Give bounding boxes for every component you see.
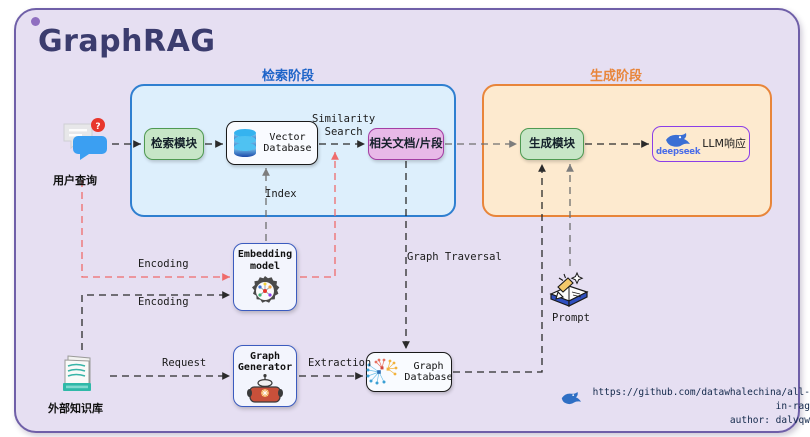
retrieve-module-label: 检索模块 <box>151 137 197 150</box>
knowledge-base-label: 外部知识库 <box>48 400 103 416</box>
retrieval-phase-label: 检索阶段 <box>262 65 314 84</box>
footer-url[interactable]: https://github.com/datawhalechina/all-in… <box>589 386 810 414</box>
graph-db-label-line1: Graph <box>404 361 452 373</box>
footer-author: author: dalvqw <box>589 414 810 428</box>
node-llm-response[interactable]: deepseek LLM响应 <box>652 126 750 162</box>
node-vector-database[interactable]: Vector Database <box>226 121 318 165</box>
embedding-model-label-line1: Embedding <box>238 249 292 260</box>
robot-icon <box>247 374 283 404</box>
user-query-icon: ? <box>60 118 112 162</box>
gear-network-icon <box>248 274 282 308</box>
node-generate-module[interactable]: 生成模块 <box>520 128 584 160</box>
graph-generator-label-line2: Generator <box>238 362 292 373</box>
vector-db-label-line1: Vector <box>263 132 311 144</box>
relevant-docs-label: 相关文档/片段 <box>369 137 442 150</box>
similarity-search-caption: Similarity Search <box>312 113 375 138</box>
page-title: GraphRAG <box>38 24 215 59</box>
similarity-search-line1: Similarity <box>312 113 375 125</box>
request-caption: Request <box>162 357 206 369</box>
index-caption: Index <box>265 188 297 200</box>
similarity-search-line2: Search <box>325 126 363 138</box>
prompt-icon <box>546 268 594 312</box>
graph-generator-label-line1: Graph <box>250 351 280 362</box>
deepseek-wordmark: deepseek <box>656 147 700 157</box>
graph-db-label-line2: Database <box>404 372 452 384</box>
whale-icon <box>560 388 583 410</box>
svg-text:?: ? <box>95 122 100 132</box>
diagram-canvas: GraphRAG 检索阶段 生成阶段 <box>0 0 810 437</box>
node-graph-database[interactable]: Graph Database <box>366 352 452 392</box>
deepseek-logo: deepseek <box>656 131 700 157</box>
node-graph-generator[interactable]: Graph Generator <box>233 345 297 407</box>
footer: https://github.com/datawhalechina/all-in… <box>560 386 810 427</box>
encoding-kb-caption: Encoding <box>138 296 189 308</box>
extraction-caption: Extraction <box>308 357 371 369</box>
prompt-label: Prompt <box>552 312 590 324</box>
node-retrieve-module[interactable]: 检索模块 <box>144 128 204 160</box>
generate-module-label: 生成模块 <box>529 137 575 150</box>
generation-phase-label: 生成阶段 <box>590 65 642 84</box>
encoding-query-caption: Encoding <box>138 258 189 270</box>
llm-response-label: LLM响应 <box>702 138 746 151</box>
node-relevant-documents[interactable]: 相关文档/片段 <box>368 128 444 160</box>
node-embedding-model[interactable]: Embedding model <box>233 243 297 311</box>
user-query-label: 用户查询 <box>53 172 97 188</box>
embedding-model-label-line2: model <box>250 261 280 272</box>
vector-db-label-line2: Database <box>263 143 311 155</box>
graph-traversal-caption: Graph Traversal <box>407 251 502 263</box>
knowledge-base-icon <box>58 352 104 396</box>
database-cylinder-icon <box>232 128 258 158</box>
